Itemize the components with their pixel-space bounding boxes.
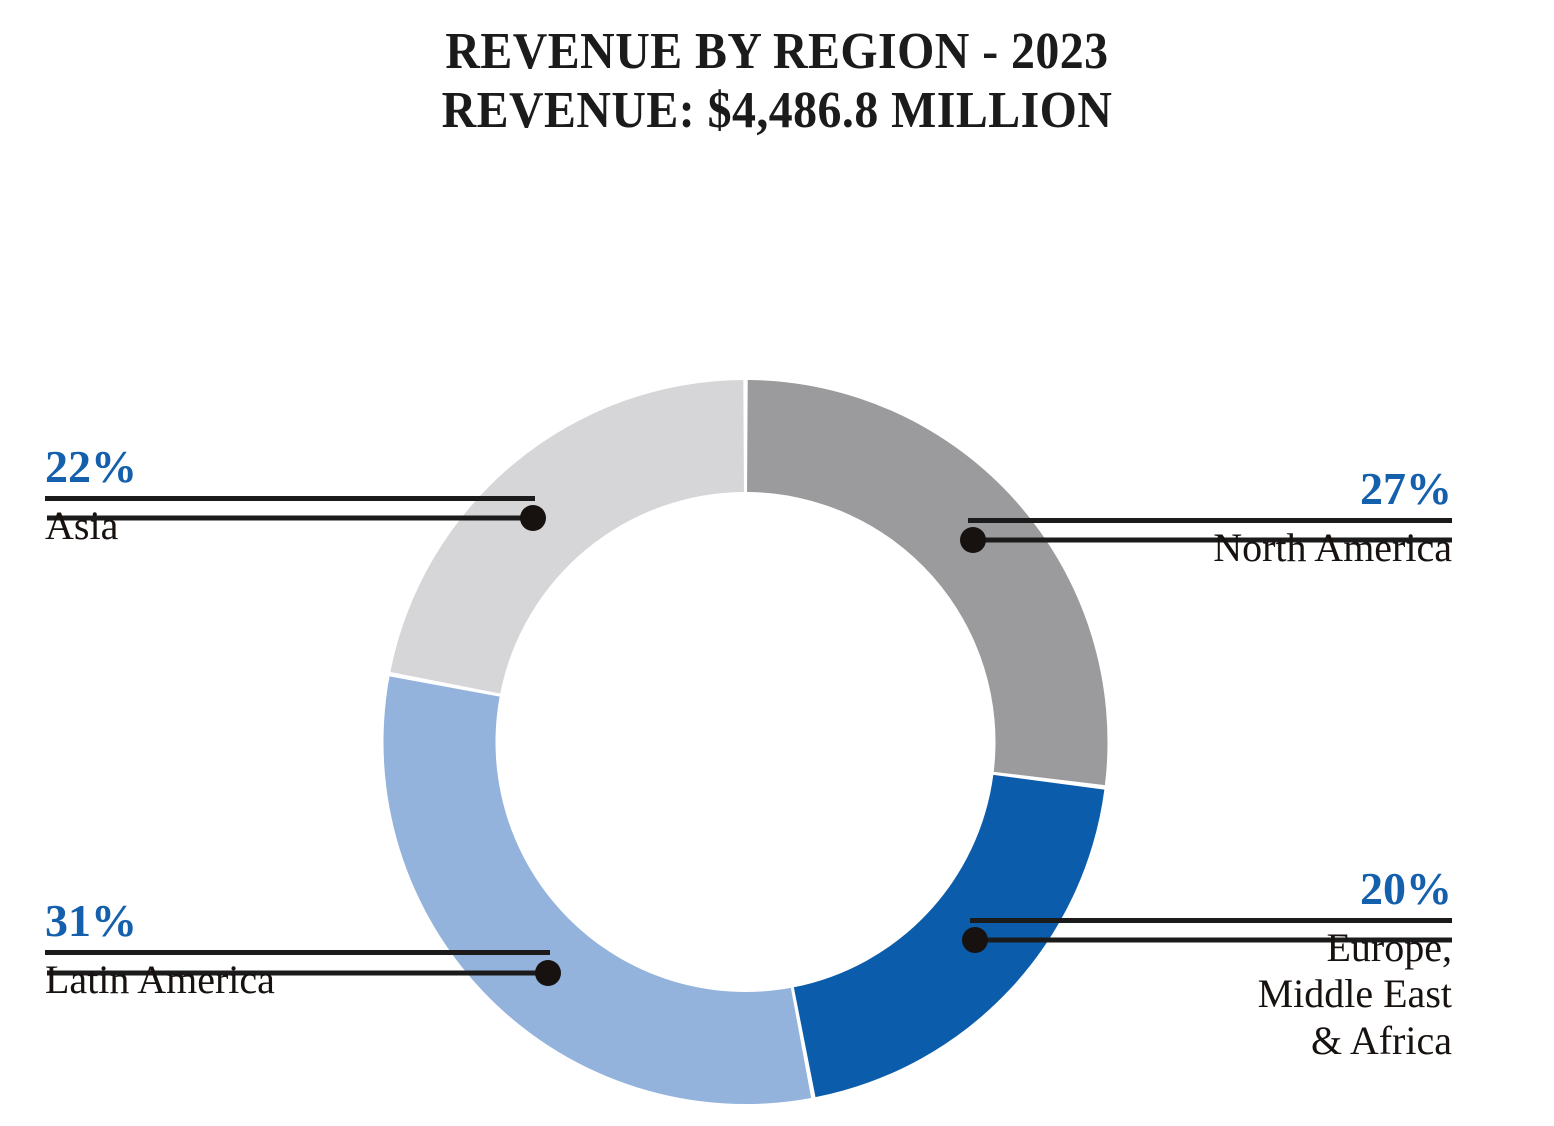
callout-north-america-rule [968,518,1452,523]
callout-asia-percent: 22% [45,444,535,490]
callout-latin-america-region: Latin America [45,957,550,1003]
callout-latin-america-rule [45,950,550,955]
callout-north-america-percent: 27% [968,466,1452,512]
callout-latin-america: 31% Latin America [45,898,550,1003]
callout-emea-region: Europe, Middle East & Africa [970,925,1452,1064]
donut-slice-north-america[interactable] [747,380,1107,785]
donut-slice-latin-america[interactable] [383,676,811,1104]
callout-emea: 20% Europe, Middle East & Africa [970,866,1452,1064]
callout-asia: 22% Asia [45,444,535,549]
callout-latin-america-percent: 31% [45,898,550,944]
callout-north-america-region: North America [968,525,1452,571]
callout-emea-percent: 20% [970,866,1452,912]
callout-asia-rule [45,496,535,501]
callout-north-america: 27% North America [968,466,1452,571]
callout-emea-rule [970,918,1452,923]
callout-asia-region: Asia [45,503,535,549]
